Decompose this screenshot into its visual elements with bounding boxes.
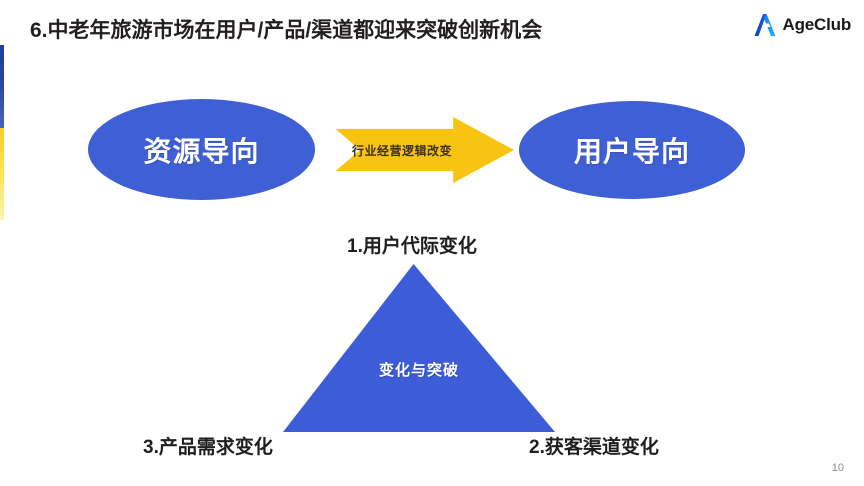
ageclub-a-mark-icon	[754, 12, 780, 38]
flow-node-right-label: 用户导向	[574, 130, 690, 170]
triangle-corner-top-label: 1.用户代际变化	[347, 231, 477, 258]
brand-logo: AgeClub	[754, 12, 851, 38]
arrow-label: 行业经营逻辑改变	[352, 117, 452, 183]
transition-arrow: 行业经营逻辑改变	[324, 117, 514, 183]
triangle-corner-bottom-right-label: 2.获客渠道变化	[529, 432, 659, 459]
triangle-center-label: 变化与突破	[283, 359, 555, 380]
logo-text: AgeClub	[783, 15, 851, 35]
triangle-diagram: 变化与突破	[283, 264, 555, 432]
triangle-shape	[283, 264, 555, 432]
blue-accent-bar	[0, 45, 4, 128]
triangle-corner-bottom-left-label: 3.产品需求变化	[143, 432, 273, 459]
page-number: 10	[832, 462, 844, 474]
flow-node-user-oriented: 用户导向	[519, 101, 745, 199]
flow-node-left-label: 资源导向	[143, 130, 259, 170]
slide-canvas: 6.中老年旅游市场在用户/产品/渠道都迎来突破创新机会 AgeClub 资源导向	[0, 0, 864, 486]
yellow-accent-bar	[0, 128, 4, 220]
flow-node-resource-oriented: 资源导向	[88, 99, 315, 200]
page-title: 6.中老年旅游市场在用户/产品/渠道都迎来突破创新机会	[30, 14, 542, 44]
